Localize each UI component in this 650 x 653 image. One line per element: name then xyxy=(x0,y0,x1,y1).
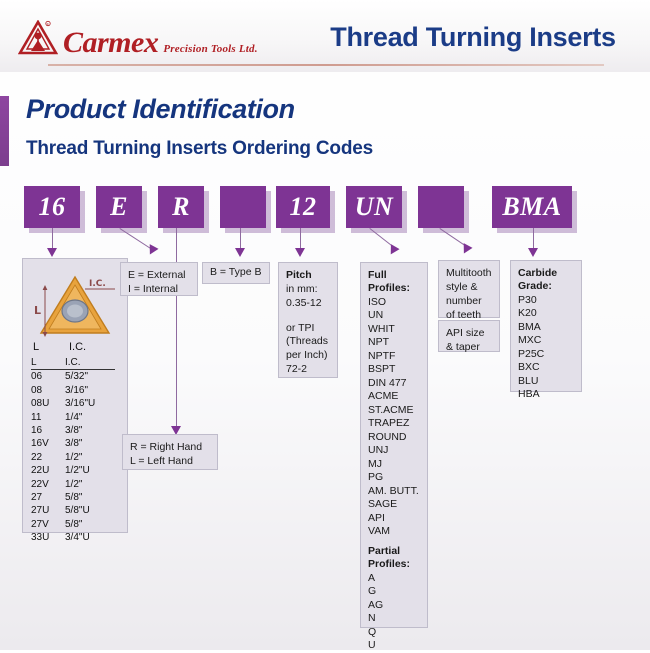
page-subtitle: Thread Turning Inserts Ordering Codes xyxy=(26,138,373,160)
partial-profile-item: G xyxy=(368,585,420,598)
full-profile-item: NPTF xyxy=(368,350,420,363)
partial-profile-item: Q xyxy=(368,626,420,639)
size-table-cell: 08 xyxy=(31,384,65,397)
profiles-box: Full Profiles: ISOUNWHITNPTNPTFBSPTDIN 4… xyxy=(360,262,428,628)
multitooth-line-2: style & xyxy=(446,281,492,295)
full-profile-item: DIN 477 xyxy=(368,377,420,390)
size-table-cell: 5/8" xyxy=(65,491,115,504)
table-row: 083/16" xyxy=(23,384,127,397)
full-profile-item: NPT xyxy=(368,336,420,349)
size-table-cell: 33U xyxy=(31,531,65,544)
connector-arrow-profiles xyxy=(386,244,399,257)
connector-arrow-hand xyxy=(145,244,158,257)
table-row: 163/8" xyxy=(23,424,127,437)
carmex-logo: R Carmex Precision Tools Ltd. xyxy=(18,22,258,58)
full-profile-item: PG xyxy=(368,471,420,484)
size-table-cell: 5/8"U xyxy=(65,504,115,517)
size-table-cell: 1/2" xyxy=(65,451,115,464)
size-table-cell: 3/8" xyxy=(65,424,115,437)
connector-line-size xyxy=(52,228,53,250)
connector-line-direction xyxy=(176,228,177,428)
size-table-cell: 5/8" xyxy=(65,518,115,531)
size-table-cell: 16 xyxy=(31,424,65,437)
connector-arrow-size xyxy=(47,248,57,257)
grade-box: Carbide Grade: P30K20BMAMXCP25CBXCBLUHBA xyxy=(510,260,582,392)
figure-caption-strip: L I.C. xyxy=(22,340,128,357)
figure-caption-ic: I.C. xyxy=(69,341,86,353)
grade-item: K20 xyxy=(518,307,574,320)
pitch-line-4: (Threads xyxy=(286,335,330,349)
full-profile-item: ISO xyxy=(368,296,420,309)
full-profiles-title-2: Profiles: xyxy=(368,282,420,295)
pitch-line-3: or TPI xyxy=(286,322,330,336)
carmex-triangle-logo-icon: R xyxy=(18,20,58,56)
size-table-cell: 16V xyxy=(31,437,65,450)
code-box-3 xyxy=(220,186,266,228)
grade-item: BMA xyxy=(518,321,574,334)
table-row: 065/32" xyxy=(23,370,127,383)
size-table-cell: 22V xyxy=(31,478,65,491)
table-row: 27V5/8" xyxy=(23,518,127,531)
size-table-cell: 06 xyxy=(31,370,65,383)
table-row: 221/2" xyxy=(23,451,127,464)
code-box-5: UN xyxy=(346,186,402,228)
code-box-label-7: BMA xyxy=(502,192,561,222)
full-profile-item: ST.ACME xyxy=(368,404,420,417)
size-table-cell: 1/2"U xyxy=(65,464,115,477)
api-line-2: & taper xyxy=(446,341,492,355)
logo-tagline: Precision Tools Ltd. xyxy=(163,43,257,58)
size-table-cell: 3/16"U xyxy=(65,397,115,410)
multitooth-box: Multitooth style & number of teeth xyxy=(438,260,500,318)
pitch-line-5: per Inch) xyxy=(286,349,330,363)
table-row: 08U3/16"U xyxy=(23,397,127,410)
size-table-cell: 5/32" xyxy=(65,370,115,383)
code-box-1: E xyxy=(96,186,142,228)
size-table-cell: 1/2" xyxy=(65,478,115,491)
size-table-header-0: L xyxy=(31,356,65,370)
code-box-6 xyxy=(418,186,464,228)
direction-box: R = Right Hand L = Left Hand xyxy=(122,434,218,470)
page-header: R Carmex Precision Tools Ltd. Thread Tur… xyxy=(0,0,650,72)
grade-title-2: Grade: xyxy=(518,280,574,293)
pitch-title: Pitch xyxy=(286,269,330,283)
pitch-line-1: in mm: xyxy=(286,283,330,297)
size-table-cell: 22 xyxy=(31,451,65,464)
code-box-label-5: UN xyxy=(355,192,394,222)
code-box-label-2: R xyxy=(172,192,190,222)
connector-line-grade xyxy=(533,228,534,250)
connector-arrow-pitch xyxy=(295,248,305,257)
code-box-0: 16 xyxy=(24,186,80,228)
accent-bar xyxy=(0,96,9,166)
code-box-2: R xyxy=(158,186,204,228)
connector-line-pitch xyxy=(300,228,301,250)
hand-line-1: E = External xyxy=(128,269,190,283)
size-table-header: LI.C. xyxy=(23,356,127,370)
code-box-4: 12 xyxy=(276,186,330,228)
full-profiles-title-1: Full xyxy=(368,269,420,282)
size-table-header-1: I.C. xyxy=(65,356,115,370)
grade-title-1: Carbide xyxy=(518,267,574,280)
connector-arrow-grade xyxy=(528,248,538,257)
full-profile-item: BSPT xyxy=(368,363,420,376)
table-row: 22U1/2"U xyxy=(23,464,127,477)
multitooth-line-1: Multitooth xyxy=(446,267,492,281)
grade-item: BXC xyxy=(518,361,574,374)
table-row: 33U3/4"U xyxy=(23,531,127,544)
grade-item: BLU xyxy=(518,375,574,388)
size-table-cell: 3/8" xyxy=(65,437,115,450)
size-table-cell: 1/4" xyxy=(65,411,115,424)
code-box-label-0: 16 xyxy=(39,192,66,222)
type-box: B = Type B xyxy=(202,262,270,284)
partial-profiles-title-2: Profiles: xyxy=(368,558,420,571)
table-row: 27U5/8"U xyxy=(23,504,127,517)
partial-profiles-list: AGAGNQU xyxy=(368,572,420,653)
full-profiles-list: ISOUNWHITNPTNPTFBSPTDIN 477ACMEST.ACMETR… xyxy=(368,296,420,539)
full-profile-item: VAM xyxy=(368,525,420,538)
pitch-box: Pitch in mm: 0.35-12 or TPI (Threads per… xyxy=(278,262,338,378)
svg-text:L: L xyxy=(34,304,41,317)
table-row: 22V1/2" xyxy=(23,478,127,491)
type-line-1: B = Type B xyxy=(210,266,261,280)
size-table-cell: 22U xyxy=(31,464,65,477)
hand-line-2: I = Internal xyxy=(128,283,190,297)
size-table: LI.C.065/32"083/16"08U3/16"U111/4"163/8"… xyxy=(22,356,128,533)
connector-arrow-multitooth xyxy=(459,243,472,256)
hand-box: E = External I = Internal xyxy=(120,262,198,296)
code-box-label-1: E xyxy=(110,192,128,222)
full-profile-item: MJ xyxy=(368,458,420,471)
table-row: 16V3/8" xyxy=(23,437,127,450)
multitooth-line-3: number xyxy=(446,295,492,309)
size-table-cell: 11 xyxy=(31,411,65,424)
size-table-cell: 27V xyxy=(31,518,65,531)
svg-text:R: R xyxy=(47,22,49,26)
connector-line-type xyxy=(240,228,241,250)
api-line-1: API size xyxy=(446,327,492,341)
partial-profile-item: N xyxy=(368,612,420,625)
partial-profile-item: U xyxy=(368,639,420,652)
full-profile-item: ROUND xyxy=(368,431,420,444)
api-box: API size & taper xyxy=(438,320,500,352)
full-profile-item: ACME xyxy=(368,390,420,403)
code-box-7: BMA xyxy=(492,186,572,228)
grade-list: P30K20BMAMXCP25CBXCBLUHBA xyxy=(518,294,574,402)
connector-arrow-type xyxy=(235,248,245,257)
page-title: Product Identification xyxy=(26,94,295,125)
full-profile-item: WHIT xyxy=(368,323,420,336)
partial-profile-item: A xyxy=(368,572,420,585)
full-profile-item: UN xyxy=(368,309,420,322)
direction-line-1: R = Right Hand xyxy=(130,441,210,455)
connector-line-hand xyxy=(119,228,151,250)
size-table-cell: 27 xyxy=(31,491,65,504)
partial-profile-item: AG xyxy=(368,599,420,612)
table-row: 111/4" xyxy=(23,411,127,424)
size-table-cell: 3/4"U xyxy=(65,531,115,544)
size-table-cell: 27U xyxy=(31,504,65,517)
figure-caption-l: L xyxy=(33,341,39,353)
header-title: Thread Turning Inserts xyxy=(308,22,638,53)
full-profile-item: TRAPEZ xyxy=(368,417,420,430)
full-profile-item: API xyxy=(368,512,420,525)
connector-line-profiles xyxy=(369,228,392,246)
direction-line-2: L = Left Hand xyxy=(130,455,210,469)
size-table-cell: 08U xyxy=(31,397,65,410)
header-divider xyxy=(48,64,604,66)
code-box-label-4: 12 xyxy=(290,192,317,222)
pitch-line-6: 72-2 xyxy=(286,363,330,377)
grade-item: HBA xyxy=(518,388,574,401)
full-profile-item: AM. BUTT. xyxy=(368,485,420,498)
full-profile-item: SAGE xyxy=(368,498,420,511)
partial-profiles-title-1: Partial xyxy=(368,545,420,558)
grade-item: MXC xyxy=(518,334,574,347)
logo-wordmark: Carmex xyxy=(63,28,158,58)
full-profile-item: UNJ xyxy=(368,444,420,457)
pitch-line-2: 0.35-12 xyxy=(286,297,330,311)
grade-item: P30 xyxy=(518,294,574,307)
svg-text:I.C.: I.C. xyxy=(89,279,106,289)
table-row: 275/8" xyxy=(23,491,127,504)
size-table-cell: 3/16" xyxy=(65,384,115,397)
grade-item: P25C xyxy=(518,348,574,361)
